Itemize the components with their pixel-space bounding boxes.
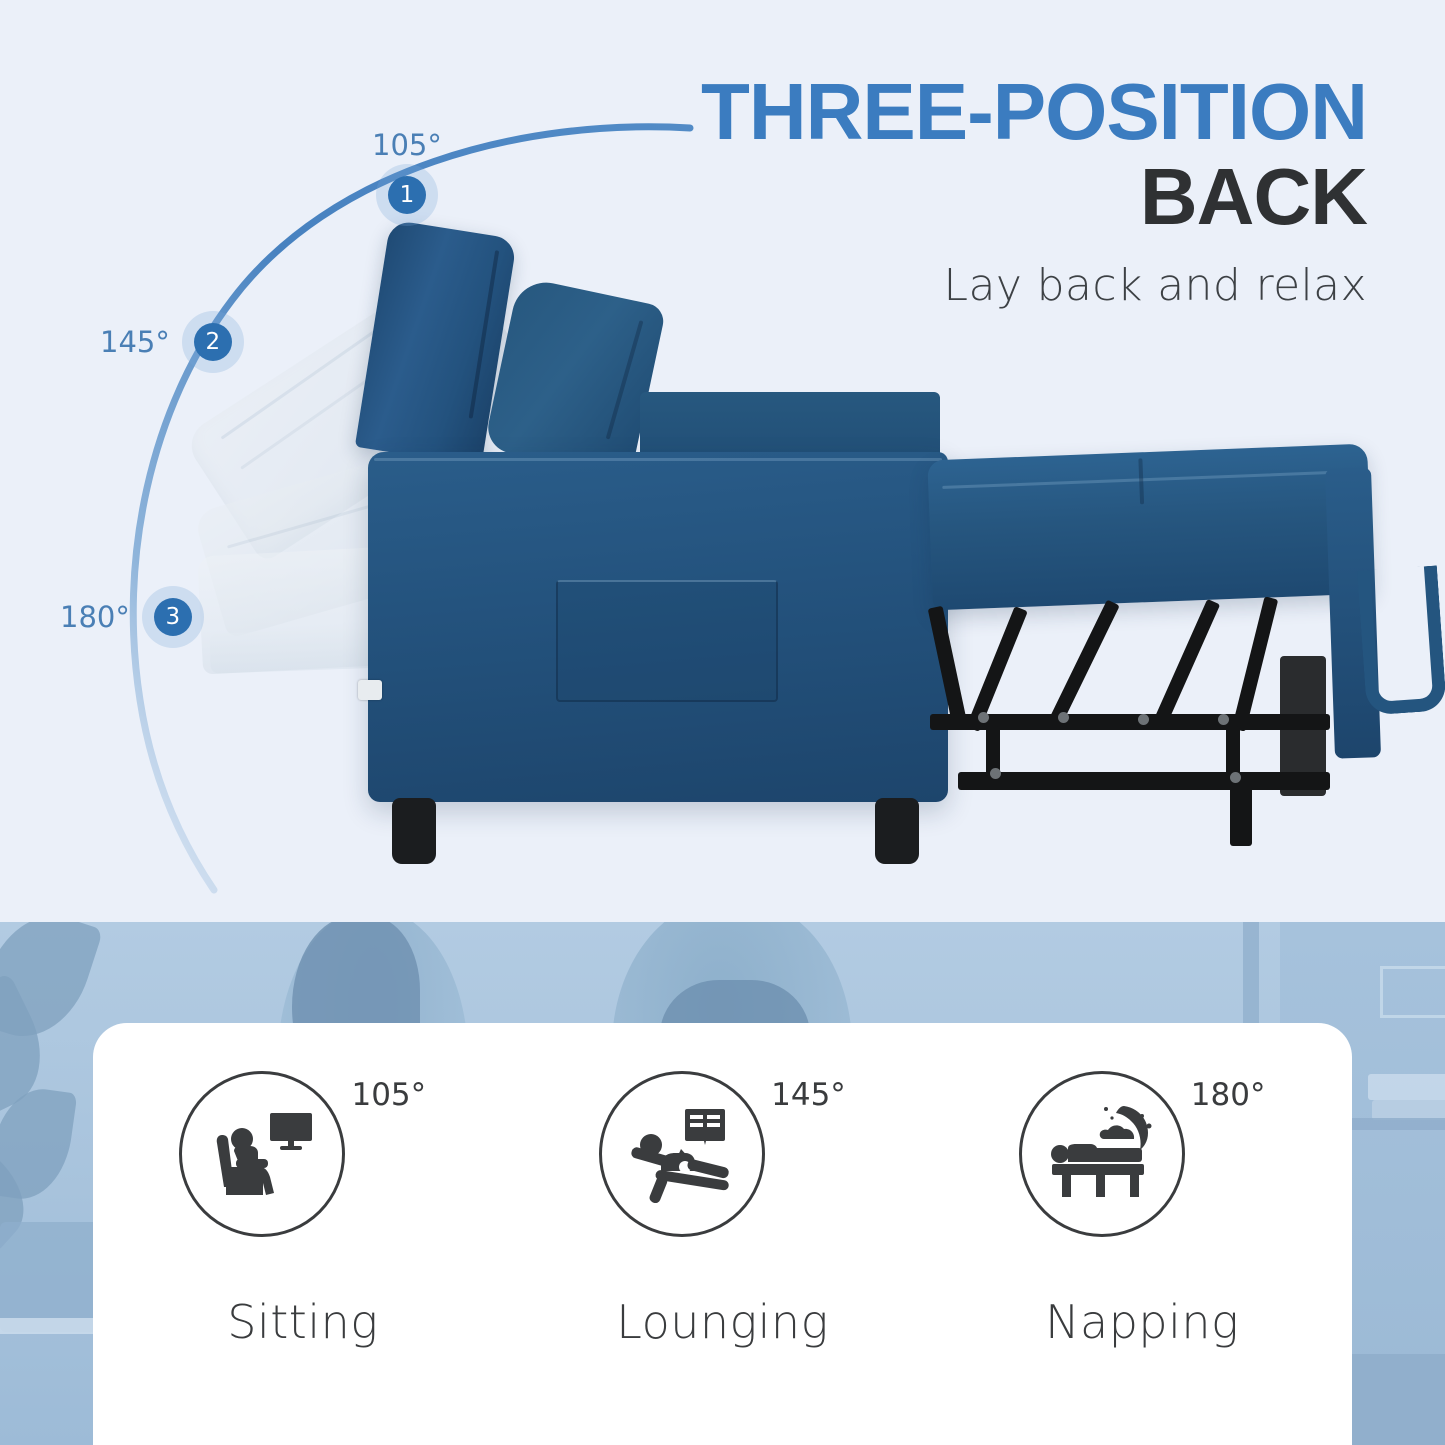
hero-panel: 105° 1 145° 2 180° 3 <box>0 0 1445 922</box>
mech-rivet <box>978 712 989 723</box>
mech-rivet <box>1218 714 1229 725</box>
hero-headline: THREE-POSITION BACK Lay back and relax <box>701 72 1367 311</box>
angle-marker-3: 180° 3 <box>60 586 204 648</box>
headline-subtitle: Lay back and relax <box>701 260 1367 311</box>
feature-lounging-angle: 145° <box>771 1077 846 1113</box>
background-books <box>1372 1100 1445 1120</box>
angle-marker-2: 145° 2 <box>100 311 244 373</box>
extended-footrest-cushion <box>927 444 1372 611</box>
background-books <box>1368 1074 1445 1100</box>
angle-marker-1-halo: 1 <box>376 164 438 226</box>
feature-sitting: 105° Sitting <box>148 1071 458 1349</box>
person-watching-tv-icon <box>179 1071 345 1237</box>
mech-rivet <box>1138 714 1149 725</box>
feature-lounging-label: Lounging <box>616 1295 828 1349</box>
feature-napping-angle: 180° <box>1191 1077 1266 1113</box>
angle-marker-2-dot: 2 <box>194 323 232 361</box>
mech-strut-3 <box>1050 600 1120 723</box>
features-list: 105° Sitting <box>93 1023 1352 1445</box>
infographic-page: 105° 1 145° 2 180° 3 <box>0 0 1445 1445</box>
angle-marker-1-dot: 1 <box>388 176 426 214</box>
feature-lounging-icon-row: 145° <box>599 1071 846 1237</box>
chair-leg-back <box>875 798 919 864</box>
mech-rivet <box>1058 712 1069 723</box>
fabric-pull-strap <box>1357 565 1445 715</box>
feature-sitting-icon-row: 105° <box>179 1071 426 1237</box>
feature-sitting-label: Sitting <box>227 1295 378 1349</box>
angle-marker-3-label: 180° <box>60 600 130 634</box>
angle-marker-3-dot: 3 <box>154 598 192 636</box>
feature-lounging: 145° Lounging <box>567 1071 877 1349</box>
headline-line-1: THREE-POSITION <box>701 72 1367 152</box>
mech-foot-post <box>1230 784 1252 846</box>
arc-path <box>133 127 690 890</box>
mech-strut-1 <box>928 606 968 726</box>
angle-marker-3-halo: 3 <box>142 586 204 648</box>
mech-strut-4 <box>1154 599 1220 725</box>
angle-marker-2-halo: 2 <box>182 311 244 373</box>
feature-napping: 180° Napping <box>987 1071 1297 1349</box>
headline-line-2: BACK <box>701 152 1367 242</box>
feature-sitting-angle: 105° <box>351 1077 426 1113</box>
arc-svg <box>0 0 700 922</box>
mech-strut-5 <box>1232 596 1278 731</box>
features-card: 105° Sitting <box>93 1023 1352 1445</box>
angle-arc-graphic <box>0 0 700 922</box>
feature-napping-label: Napping <box>1045 1295 1239 1349</box>
reclining-metal-mechanism <box>930 596 1350 836</box>
angle-marker-1: 105° 1 <box>372 128 442 226</box>
person-sleeping-moon-icon <box>1019 1071 1185 1237</box>
features-panel: 105° Sitting <box>0 922 1445 1445</box>
background-picture-frame <box>1380 966 1445 1018</box>
person-lounging-reading-icon <box>599 1071 765 1237</box>
mech-rivet <box>990 768 1001 779</box>
angle-marker-1-label: 105° <box>372 128 442 162</box>
mech-rivet <box>1230 772 1241 783</box>
angle-marker-2-label: 145° <box>100 325 170 359</box>
feature-napping-icon-row: 180° <box>1019 1071 1266 1237</box>
mech-rail-lower <box>958 772 1330 790</box>
